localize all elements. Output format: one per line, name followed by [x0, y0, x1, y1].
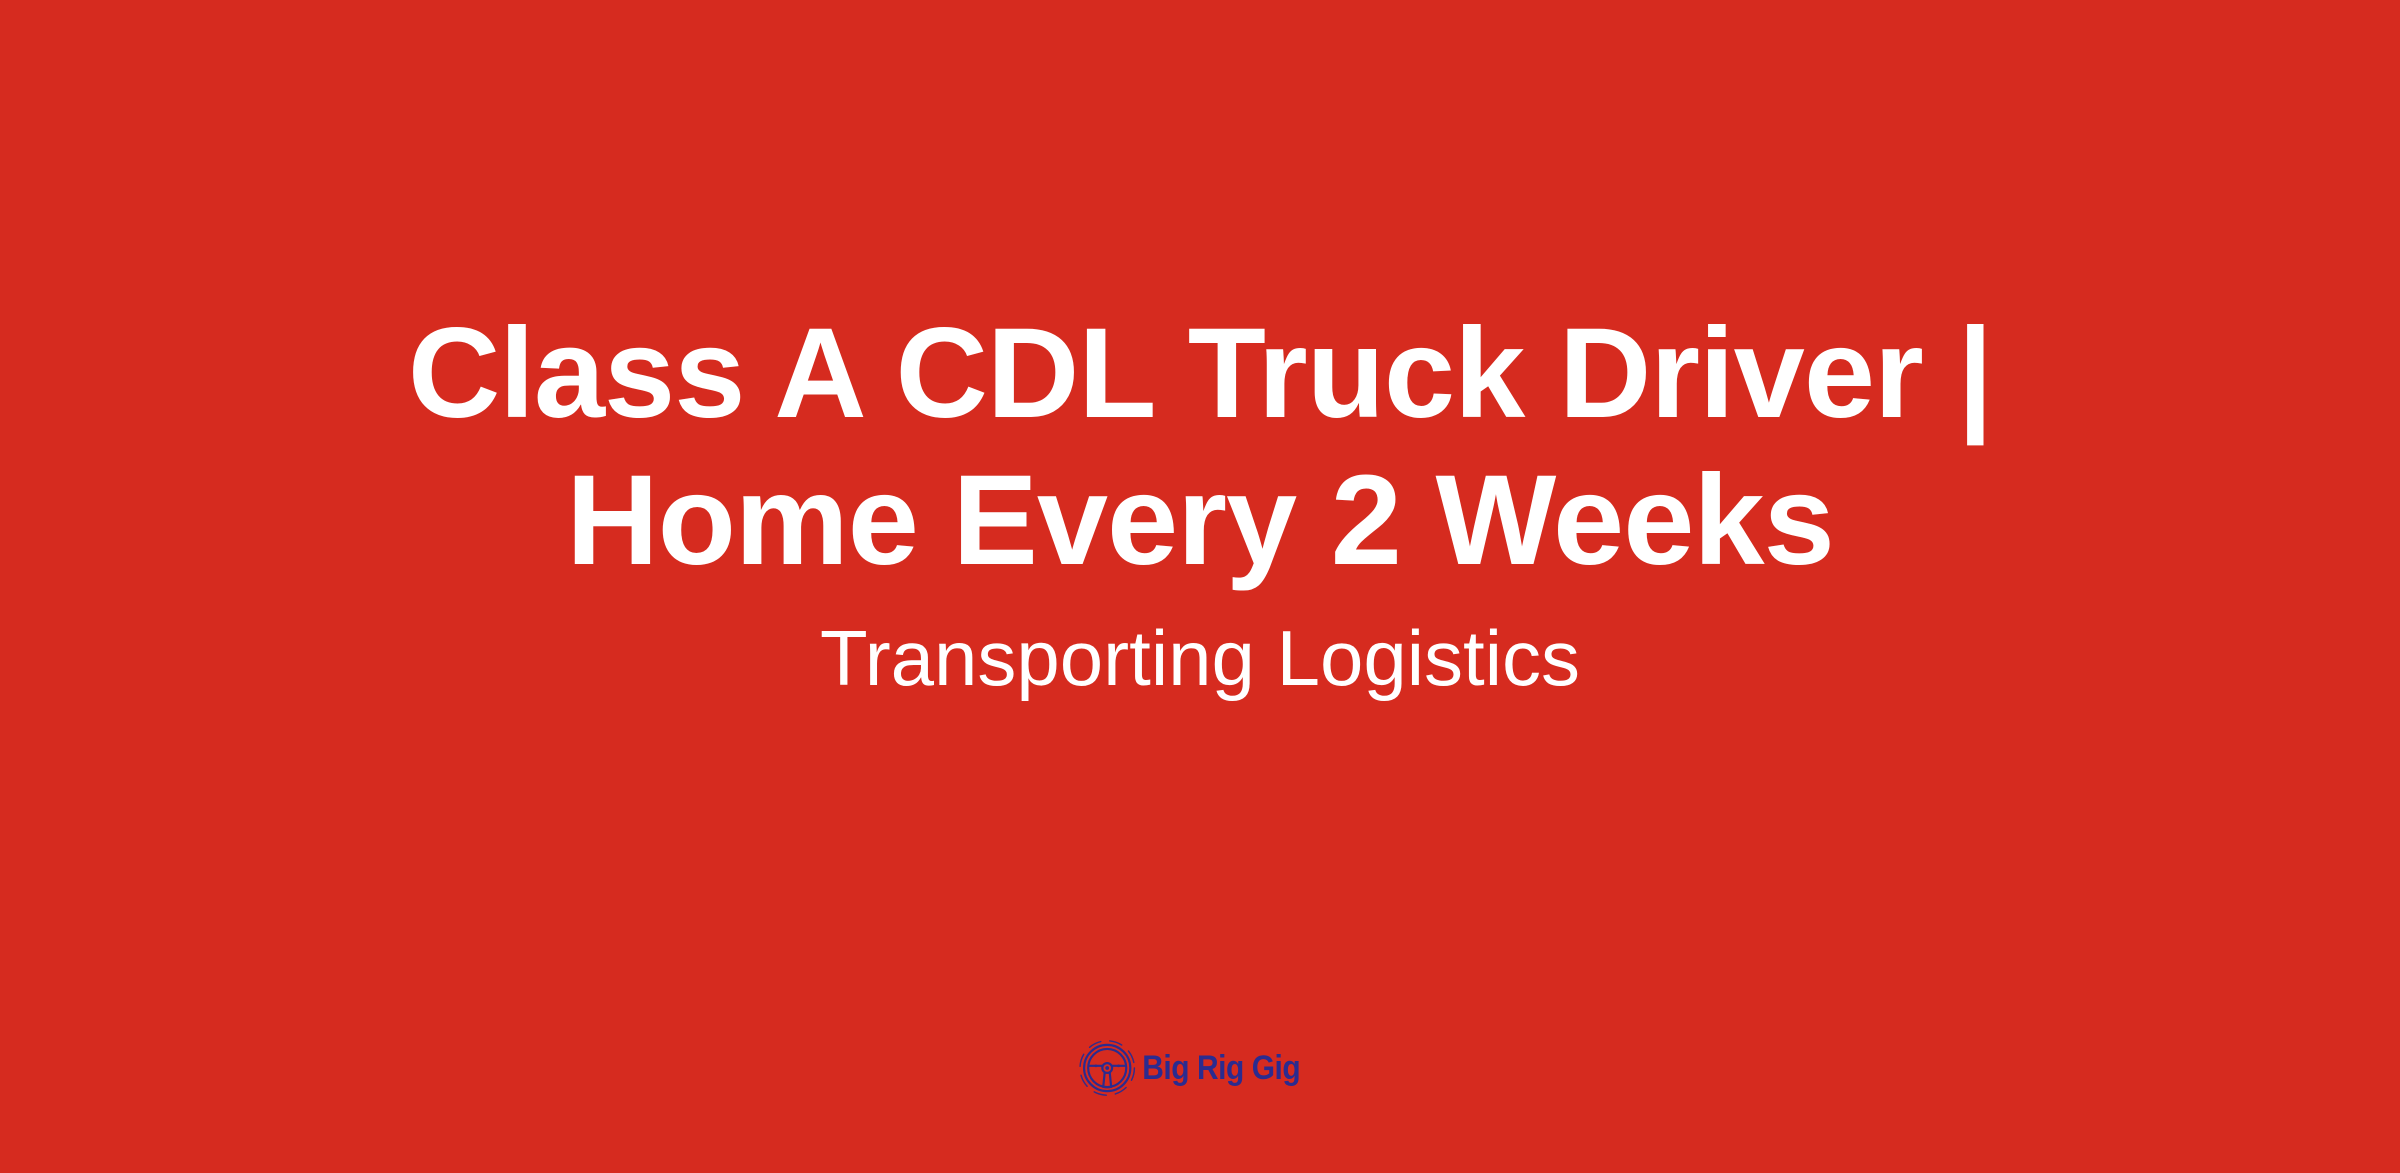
steering-wheel-icon [1078, 1039, 1136, 1097]
job-banner: Class A CDL Truck Driver | Home Every 2 … [0, 0, 2400, 1173]
brand-logo[interactable]: Big Rig Gig [1078, 1036, 1322, 1100]
brand-name: Big Rig Gig [1142, 1051, 1300, 1085]
page-title: Class A CDL Truck Driver | Home Every 2 … [0, 300, 2400, 594]
company-name: Transporting Logistics [0, 612, 2400, 706]
headline-block: Class A CDL Truck Driver | Home Every 2 … [0, 300, 2400, 706]
